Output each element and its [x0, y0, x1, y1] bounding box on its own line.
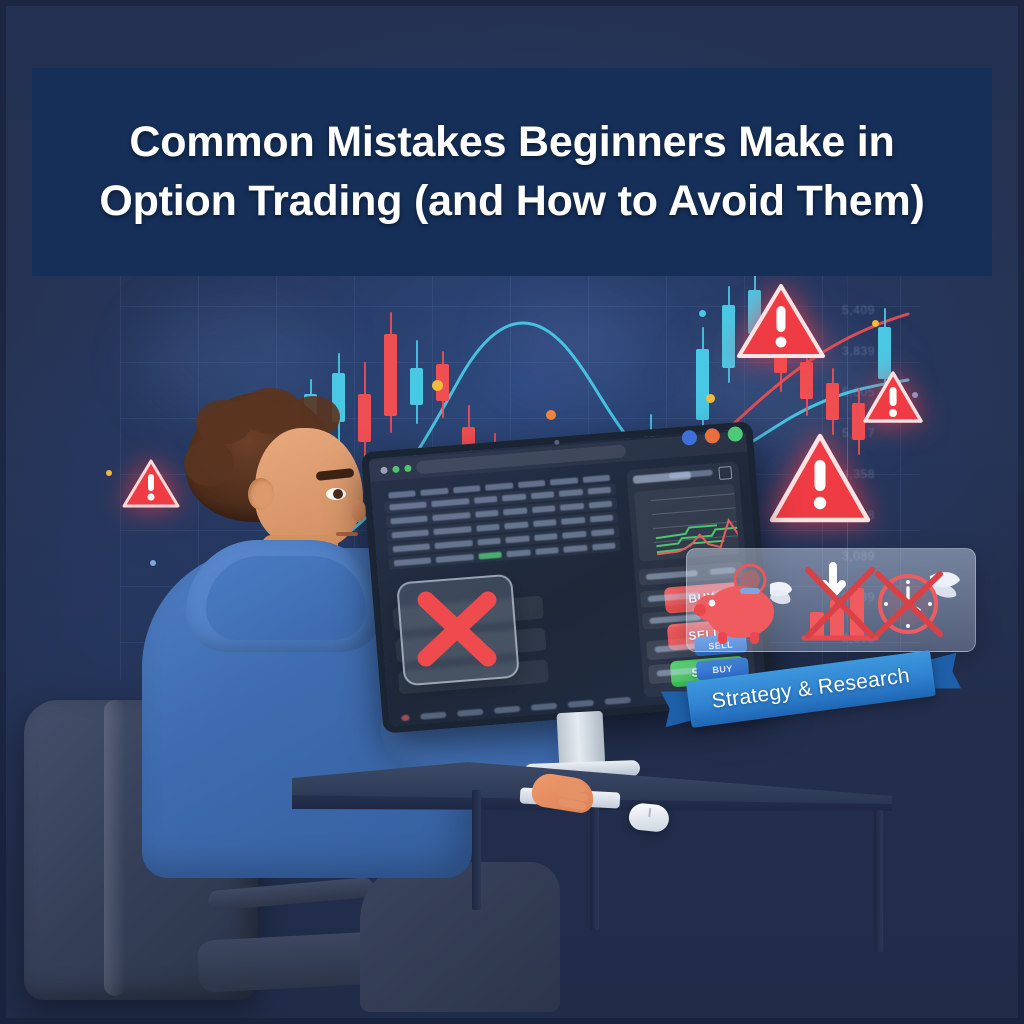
desk-leg [590, 802, 599, 930]
title-banner: Common Mistakes Beginners Make in Option… [32, 68, 992, 276]
warning-triangle-large [768, 432, 872, 526]
positions-table[interactable] [383, 471, 621, 571]
led-green [727, 426, 743, 442]
accent-dot [106, 470, 112, 476]
candle-body [384, 334, 397, 416]
led-blue [681, 430, 697, 446]
led-orange [704, 428, 720, 444]
candle-body [800, 362, 813, 399]
page-title: Common Mistakes Beginners Make in Option… [32, 113, 992, 232]
warning-triangle-medium [862, 370, 924, 426]
desk-leg [472, 790, 481, 910]
candle-body [358, 394, 371, 442]
office-chair-highlight [104, 700, 126, 996]
warning-triangle-large [736, 282, 826, 362]
accent-dot [546, 410, 556, 420]
person-legs [360, 862, 560, 1012]
candle-body [410, 368, 423, 405]
person-hair-lock [184, 440, 234, 486]
warning-triangle-small [122, 458, 180, 510]
flying-clock-icon [864, 560, 962, 644]
candle-body [722, 305, 735, 368]
person-nose [352, 500, 366, 522]
person-hood-inner [206, 556, 366, 640]
poster-scene: 6,009 5,409 3,839 5,605 5,817 4,358 3,46… [0, 0, 1024, 1024]
candle-body [826, 383, 839, 420]
candle-body [696, 349, 709, 420]
accent-dot [150, 560, 156, 566]
expand-icon[interactable] [718, 466, 732, 480]
x-mark-icon [404, 582, 508, 676]
accent-dot [699, 310, 706, 317]
person-mouth [336, 532, 358, 536]
flying-piggy-bank-icon [692, 556, 796, 648]
accent-dot [872, 320, 879, 327]
person-eye [326, 488, 346, 500]
person-ear [248, 478, 274, 510]
accent-dot [706, 394, 715, 403]
desk-leg [874, 810, 883, 952]
accent-dot [432, 380, 443, 391]
